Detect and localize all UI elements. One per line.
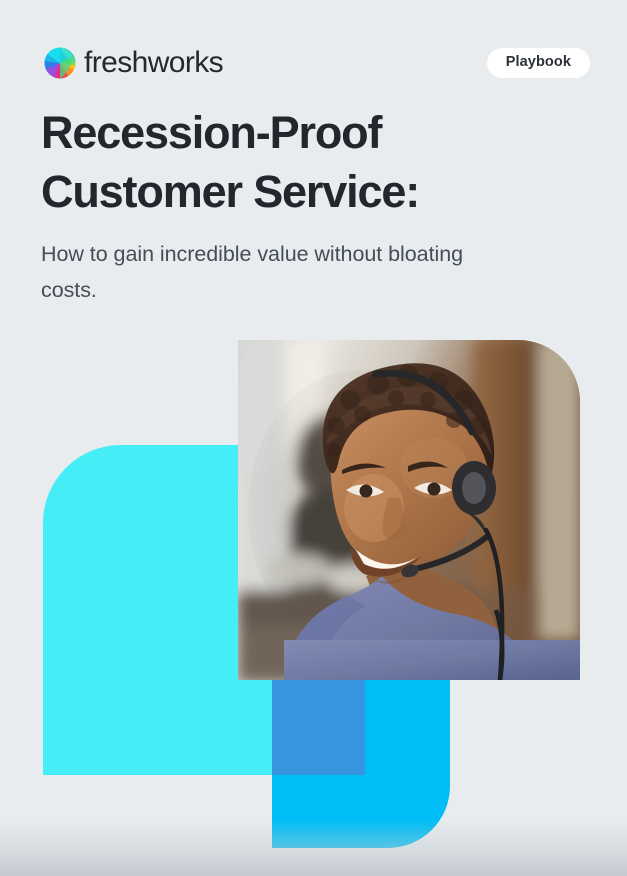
page-subtitle: How to gain incredible value without blo… — [41, 236, 496, 308]
freshworks-wordmark: freshworks — [84, 48, 223, 78]
playbook-badge[interactable]: Playbook — [487, 48, 590, 79]
page-title-line-2: Customer Service: — [41, 166, 419, 217]
cover-header: freshworks Playbook — [43, 41, 590, 85]
freshworks-leaf-logo-icon — [43, 46, 77, 80]
agent-photo — [238, 340, 580, 680]
playbook-cover-page: freshworks Playbook Recession-ProofCusto… — [0, 0, 627, 876]
page-title-line-1: Recession-Proof — [41, 107, 381, 158]
cover-title-block: Recession-ProofCustomer Service: — [41, 104, 561, 221]
freshworks-logo[interactable]: freshworks — [43, 46, 223, 80]
agent-photo-illustration — [238, 340, 580, 680]
overlap-block-shape — [272, 680, 365, 775]
page-title: Recession-ProofCustomer Service: — [41, 104, 561, 221]
